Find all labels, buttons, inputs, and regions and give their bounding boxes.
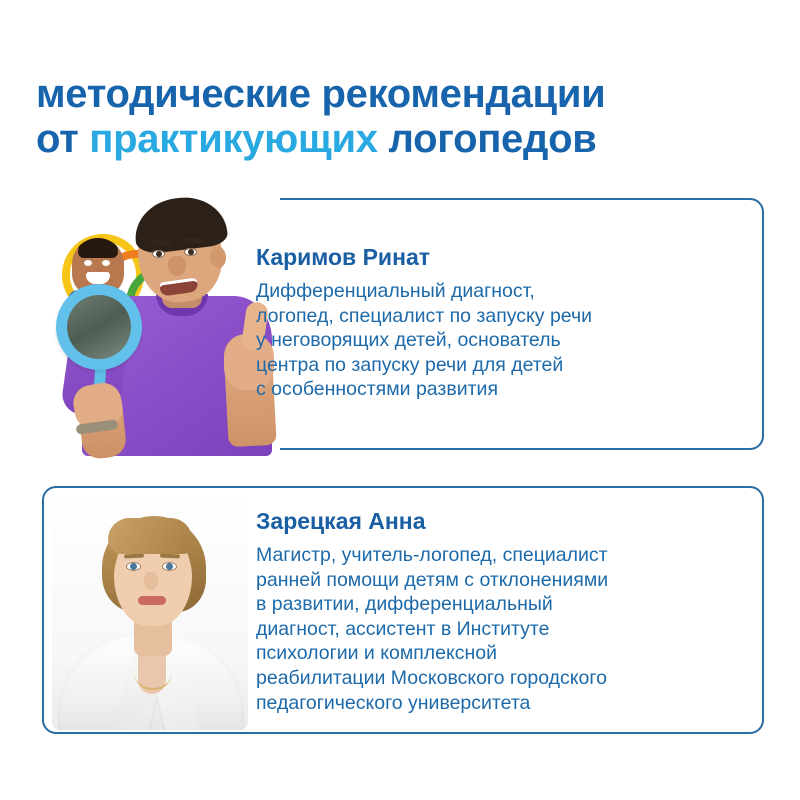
specialist-description-1: Дифференциальный диагност, логопед, спец…: [256, 279, 726, 402]
hair: [131, 193, 229, 256]
child-reflection: [72, 238, 124, 296]
nose: [144, 572, 158, 590]
white-blouse: [58, 634, 244, 730]
ear: [209, 245, 228, 269]
page-title-line-2: от практикующих логопедов: [36, 117, 776, 162]
neck: [162, 274, 202, 308]
photo-man-with-mirror: [10, 192, 280, 454]
page-title-highlight: практикующих: [89, 117, 377, 161]
poster-root: методические рекомендации от практикующи…: [0, 0, 800, 800]
child-shoulders: [68, 290, 128, 316]
face: [116, 534, 190, 576]
eye-left: [152, 250, 165, 258]
eyebrow-left: [150, 239, 172, 246]
blouse-lapel-right: [146, 641, 201, 730]
specialist-info-2: Зарецкая Анна Магистр, учитель-логопед, …: [256, 508, 726, 715]
photo-backdrop: [10, 192, 280, 454]
mirror-glass: [67, 295, 131, 359]
eye-right: [184, 248, 197, 256]
specialist-name-1: Каримов Ринат: [256, 244, 726, 270]
eyebrow-right: [160, 553, 180, 558]
neck: [134, 612, 172, 656]
hair-fringe: [108, 518, 192, 554]
specialist-description-2: Магистр, учитель-логопед, специалист ран…: [256, 543, 726, 715]
blouse-v-neck: [138, 640, 166, 694]
bracelet: [76, 419, 119, 435]
child-eye-right: [102, 260, 110, 266]
eyebrow-left: [124, 553, 144, 558]
eye-left: [126, 562, 141, 571]
arm-left: [76, 386, 127, 460]
mirror-frame: [56, 284, 142, 370]
card-body: Каримов Ринат Дифференциальный диагност,…: [44, 200, 762, 448]
toy-ring-orange: [98, 250, 176, 328]
child-eye-left: [84, 260, 92, 266]
lips: [138, 596, 166, 605]
nose: [167, 255, 187, 276]
necklace: [134, 672, 172, 690]
specialist-info-1: Каримов Ринат Дифференциальный диагност,…: [256, 244, 726, 402]
purple-tshirt: [82, 296, 272, 456]
blouse-lapel-left: [114, 641, 169, 730]
photo-backdrop: [52, 494, 248, 730]
hair: [102, 516, 206, 612]
tshirt-sleeve-left: [60, 320, 130, 419]
eye-right: [162, 562, 177, 571]
specialist-name-2: Зарецкая Анна: [256, 508, 726, 534]
page-title-line-1: методические рекомендации: [36, 72, 776, 117]
specialist-card-1[interactable]: Каримов Ринат Дифференциальный диагност,…: [42, 198, 764, 450]
eyebrow-right: [182, 238, 204, 244]
mouth: [159, 277, 199, 296]
toy-ring-green: [126, 266, 200, 340]
page-title: методические рекомендации от практикующи…: [36, 72, 776, 162]
tshirt-collar: [156, 294, 208, 316]
page-title-line-2-suffix: логопедов: [378, 117, 597, 161]
toy-ring-yellow: [62, 234, 144, 316]
card-body: Зарецкая Анна Магистр, учитель-логопед, …: [44, 488, 762, 732]
photo-woman-portrait: [52, 494, 248, 730]
hand-left: [71, 380, 126, 432]
mirror-handle: [91, 342, 108, 429]
specialist-card-2[interactable]: Зарецкая Анна Магистр, учитель-логопед, …: [42, 486, 764, 734]
head: [132, 201, 227, 307]
head: [114, 532, 192, 626]
page-title-line-2-prefix: от: [36, 117, 89, 161]
